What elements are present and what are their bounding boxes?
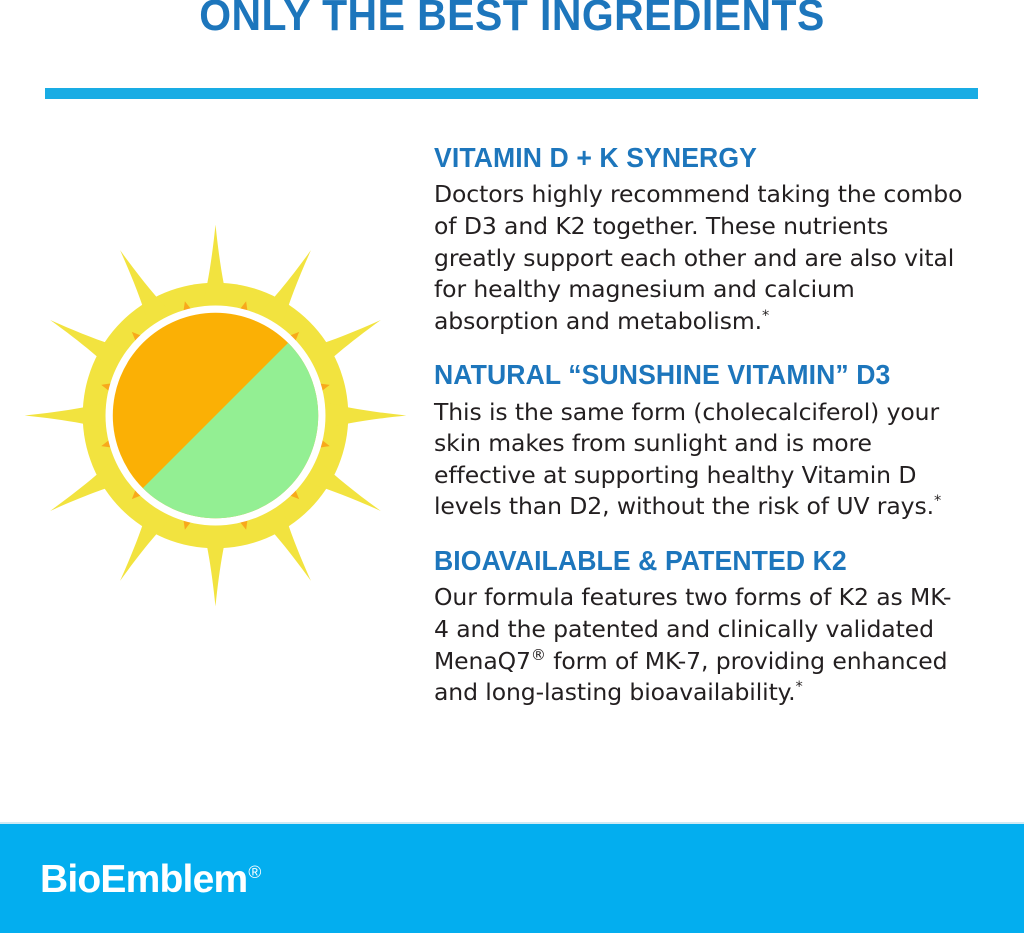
registered-trademark-icon: ® xyxy=(248,862,260,882)
ingredient-body: This is the same form (cholecalciferol) … xyxy=(434,397,964,523)
brand-logo: BioEmblem® xyxy=(40,858,260,902)
ingredient-block-sunshine-vitamin-d3: NATURAL “SUNSHINE VITAMIN” D3 This is th… xyxy=(434,359,994,523)
footnote-marker: * xyxy=(762,307,769,324)
content-area: VITAMIN D + K SYNERGY Doctors highly rec… xyxy=(0,120,1024,810)
ingredient-body-text: Doctors highly recommend taking the comb… xyxy=(434,180,962,334)
ingredient-body: Doctors highly recommend taking the comb… xyxy=(434,179,964,337)
ingredient-block-vitamin-d-k-synergy: VITAMIN D + K SYNERGY Doctors highly rec… xyxy=(434,142,994,337)
ingredient-list: VITAMIN D + K SYNERGY Doctors highly rec… xyxy=(434,142,994,709)
ingredient-body: Our formula features two forms of K2 as … xyxy=(434,582,964,708)
page-title: ONLY THE BEST INGREDIENTS xyxy=(36,0,988,39)
footnote-marker: * xyxy=(934,493,941,510)
ingredient-body-text: This is the same form (cholecalciferol) … xyxy=(434,398,939,521)
sun-illustration-container xyxy=(8,208,423,623)
ingredient-heading: NATURAL “SUNSHINE VITAMIN” D3 xyxy=(434,359,966,390)
ingredient-heading: BIOAVAILABLE & PATENTED K2 xyxy=(434,545,966,576)
ingredient-heading: VITAMIN D + K SYNERGY xyxy=(434,142,966,173)
registered-trademark-icon: ® xyxy=(531,646,546,664)
ingredient-block-bioavailable-patented-k2: BIOAVAILABLE & PATENTED K2 Our formula f… xyxy=(434,545,994,709)
sun-icon xyxy=(8,208,423,623)
footnote-marker: * xyxy=(796,678,803,695)
title-divider-rule xyxy=(45,88,978,99)
footer-top-rule xyxy=(0,822,1024,824)
brand-logo-text: BioEmblem xyxy=(40,858,247,901)
brand-footer: BioEmblem® xyxy=(0,822,1024,933)
